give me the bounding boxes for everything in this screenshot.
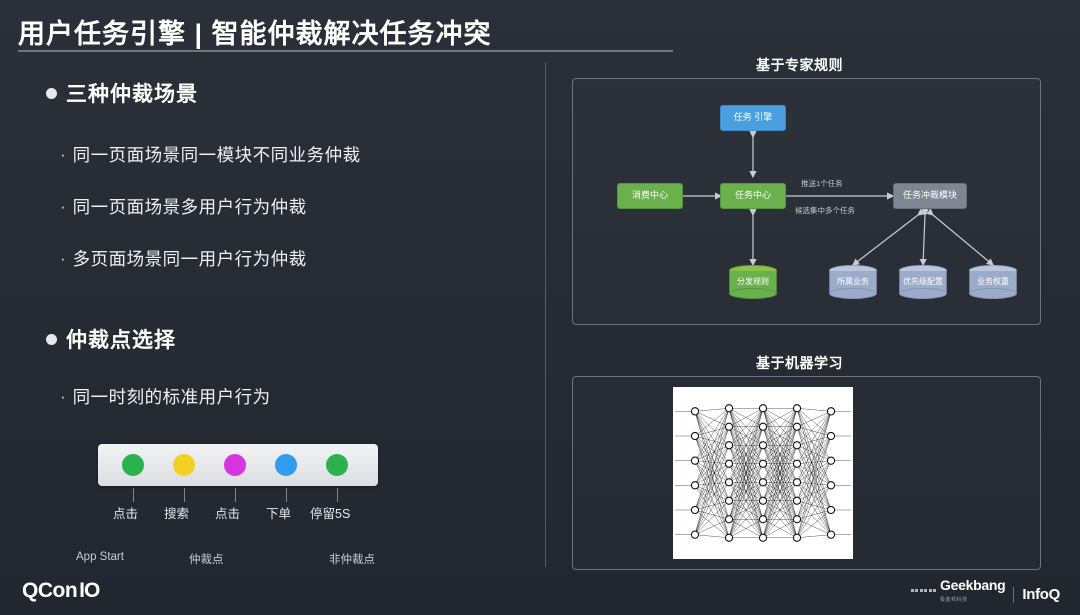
- footer-divider: [1013, 587, 1014, 603]
- section-heading-1: 三种仲裁场景: [46, 78, 198, 108]
- list-item: · 同一页面场景多用户行为仲裁: [60, 194, 307, 219]
- tick-icon: ·: [60, 388, 66, 405]
- node-consumer-center: 消费中心: [617, 183, 683, 209]
- node-task-engine: 任务 引擎: [720, 105, 786, 131]
- timeline-label-4: 下单: [266, 503, 291, 522]
- timeline-label-2: 搜索: [164, 503, 189, 522]
- qcon-wordmark: QCon: [22, 579, 77, 603]
- node-task-center: 任务中心: [720, 183, 786, 209]
- timeline-tick: [337, 488, 338, 502]
- left-content-column: 三种仲裁场景 · 同一页面场景同一模块不同业务仲裁 · 同一页面场景多用户行为仲…: [0, 62, 545, 567]
- bullet-dot-icon: [46, 88, 57, 99]
- neural-network-diagram: [673, 387, 853, 559]
- edge-label-push-one-task: 推送1个任务: [801, 178, 843, 189]
- list-item-label: 同一页面场景多用户行为仲裁: [73, 194, 307, 219]
- list-item: · 同一时刻的标准用户行为: [60, 384, 271, 409]
- list-item-label: 同一页面场景同一模块不同业务仲裁: [73, 142, 361, 167]
- timeline-label-1: 点击: [113, 503, 138, 522]
- infoq-wordmark: InfoQ: [1022, 586, 1060, 603]
- timeline-tick: [184, 488, 185, 502]
- neural-network-svg: [673, 387, 853, 559]
- geekbang-subtitle: 极客邦科技: [940, 596, 1005, 603]
- geekbang-name: Geekbang: [940, 577, 1005, 593]
- geekbang-dots-icon: [911, 589, 937, 592]
- list-item: · 同一页面场景同一模块不同业务仲裁: [60, 142, 361, 167]
- node-arbitration-module: 任务冲裁模块: [893, 183, 967, 209]
- tick-icon: ·: [60, 198, 66, 215]
- footer-logo-qcon: QCon IO: [22, 579, 99, 603]
- column-divider: [545, 62, 546, 567]
- footer-logos-right: Geekbang 极客邦科技 InfoQ: [911, 577, 1060, 603]
- timeline-footnote-non-arb-point: 非仲裁点: [329, 551, 375, 567]
- timeline-dot-5: [326, 454, 348, 476]
- cylinder-label: 业务权重: [969, 276, 1017, 287]
- timeline-dot-2: [173, 454, 195, 476]
- list-item: · 多页面场景同一用户行为仲裁: [60, 246, 307, 271]
- panel-machine-learning: [572, 376, 1041, 570]
- cylinder-business-weight: 业务权重: [969, 265, 1017, 299]
- section-heading-2-label: 仲裁点选择: [66, 324, 176, 354]
- timeline-label-5: 停留5S: [310, 503, 350, 522]
- timeline-dot-1: [122, 454, 144, 476]
- timeline-dot-3: [224, 454, 246, 476]
- list-item-label: 同一时刻的标准用户行为: [73, 384, 271, 409]
- tick-icon: ·: [60, 250, 66, 267]
- tick-icon: ·: [60, 146, 66, 163]
- edge-label-candidate-tasks: 候选集中多个任务: [795, 205, 855, 216]
- slide-title-bar: 用户任务引擎 | 智能仲裁解决任务冲突: [18, 12, 1062, 51]
- cylinder-business-owner: 所属业务: [829, 265, 877, 299]
- slide-root: 用户任务引擎 | 智能仲裁解决任务冲突 三种仲裁场景 · 同一页面场景同一模块不…: [0, 0, 1080, 615]
- section-heading-1-label: 三种仲裁场景: [66, 78, 198, 108]
- panel-title-machine-learning: 基于机器学习: [756, 353, 843, 373]
- timeline-widget: [98, 444, 378, 486]
- timeline-dot-4: [275, 454, 297, 476]
- cylinder-dispatch-rules: 分发规则: [729, 265, 777, 299]
- title-underline: [18, 50, 673, 52]
- cylinder-priority-config: 优先级配置: [899, 265, 947, 299]
- timeline-label-3: 点击: [215, 503, 240, 522]
- timeline-tick: [133, 488, 134, 502]
- page-title: 用户任务引擎 | 智能仲裁解决任务冲突: [18, 12, 1062, 51]
- timeline-tick: [235, 488, 236, 502]
- list-item-label: 多页面场景同一用户行为仲裁: [73, 246, 307, 271]
- panel-title-expert-rules: 基于专家规则: [756, 55, 843, 75]
- panel-expert-rules: 任务 引擎 消费中心 任务中心 任务冲裁模块 推送1个任务 候选集中多个任务 分…: [572, 78, 1041, 325]
- cylinder-label: 优先级配置: [899, 276, 947, 287]
- timeline-footnote-app-start: App Start: [76, 551, 124, 563]
- geekbang-logo: Geekbang 极客邦科技: [911, 577, 1006, 603]
- timeline-tick: [286, 488, 287, 502]
- cylinder-label: 所属业务: [829, 276, 877, 287]
- qcon-io-wordmark: IO: [79, 579, 99, 603]
- cylinder-label: 分发规则: [729, 276, 777, 287]
- bullet-dot-icon: [46, 334, 57, 345]
- timeline-footnote-arb-point: 仲裁点: [189, 551, 224, 567]
- section-heading-2: 仲裁点选择: [46, 324, 176, 354]
